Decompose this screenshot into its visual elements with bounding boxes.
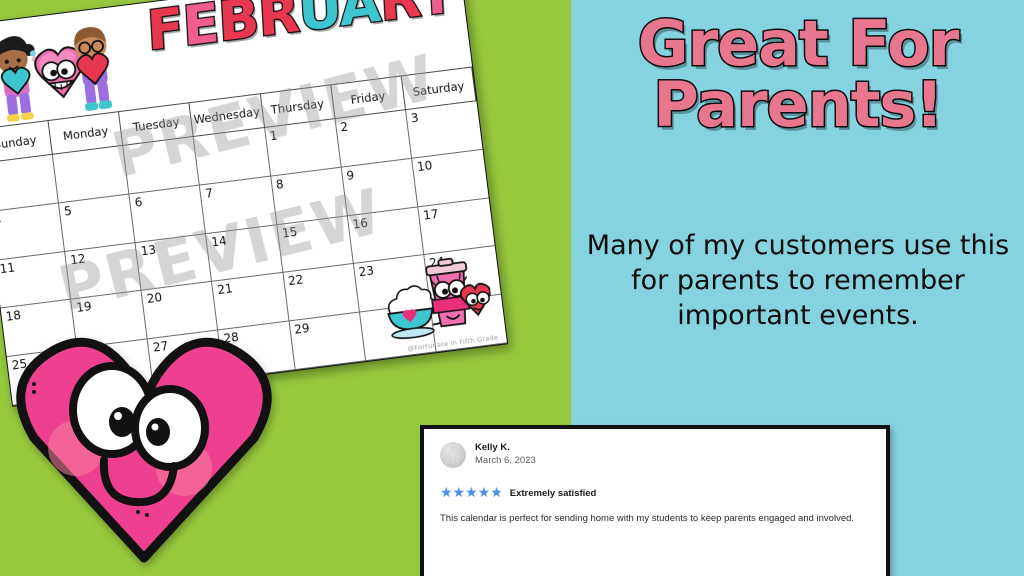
- calendar-date-cell: 22: [283, 264, 360, 321]
- month-title-letter-6: R: [378, 0, 419, 34]
- month-title-letter-4: U: [296, 0, 340, 44]
- calendar-date-number: 4: [0, 213, 2, 228]
- calendar-date-number: 8: [275, 177, 284, 192]
- kids-with-hearts-clipart: [0, 15, 127, 128]
- review-body-text: This calendar is perfect for sending hom…: [440, 511, 860, 527]
- calendar-date-number: 7: [204, 186, 213, 201]
- reviewer-name: Kelly K.: [475, 442, 536, 453]
- calendar-date-number: 17: [422, 207, 439, 223]
- calendar-date-number: 11: [0, 260, 16, 276]
- calendar-date-cell: 17: [418, 198, 495, 255]
- smiling-heart-mascot: [8, 300, 280, 572]
- calendar-date-cell: 6: [130, 185, 207, 242]
- calendar-date-number: 23: [358, 264, 375, 280]
- calendar-date-cell: 3: [406, 101, 483, 158]
- calendar-date-cell: 16: [348, 207, 425, 264]
- calendar-date-number: 2: [340, 120, 349, 135]
- slide-canvas: FEBRUARY SundayMondayTuesdayWednesdayThu…: [0, 0, 1024, 576]
- description-text: Many of my customers use this for parent…: [578, 228, 1018, 333]
- calendar-date-number: 13: [140, 242, 157, 258]
- coffee-cups-clipart: [376, 253, 495, 344]
- calendar-date-cell: 8: [271, 167, 348, 224]
- calendar-date-number: 10: [416, 158, 433, 174]
- calendar-empty-cell: [194, 128, 271, 185]
- review-meta: Kelly K. March 6, 2023: [475, 442, 536, 466]
- calendar-date-number: 1: [269, 128, 278, 143]
- rating-label: Extremely satisfied: [510, 488, 597, 499]
- review-date: March 6, 2023: [475, 455, 536, 466]
- calendar-date-cell: 14: [206, 225, 283, 282]
- calendar-date-cell: 9: [341, 159, 418, 216]
- review-rating: ★★★★★ Extremely satisfied: [440, 486, 870, 500]
- calendar-date-number: 16: [352, 215, 369, 231]
- calendar-date-cell: 5: [59, 194, 136, 251]
- customer-review-card: Kelly K. March 6, 2023 ★★★★★ Extremely s…: [420, 425, 890, 576]
- calendar-date-number: 5: [63, 204, 72, 219]
- month-title-letter-2: B: [216, 0, 259, 54]
- month-title-letter-3: R: [256, 0, 300, 49]
- calendar-empty-cell: [124, 137, 201, 194]
- month-title-letter-1: E: [181, 0, 220, 58]
- calendar-date-cell: 13: [136, 234, 213, 291]
- calendar-date-cell: 1: [265, 119, 342, 176]
- calendar-date-number: 21: [217, 282, 234, 298]
- calendar-month-title: FEBRUARY: [145, 0, 456, 59]
- calendar-date-number: 12: [69, 251, 86, 267]
- headline-line-1: Great For: [578, 14, 1018, 75]
- month-title-letter-5: A: [337, 0, 381, 39]
- headline: Great For Parents!: [578, 14, 1018, 136]
- month-title-letter-0: F: [145, 0, 184, 63]
- headline-line-2: Parents!: [578, 75, 1018, 136]
- calendar-date-cell: 2: [335, 110, 412, 167]
- calendar-date-number: 14: [211, 233, 228, 249]
- month-title-letter-7: Y: [415, 0, 456, 29]
- calendar-date-cell: 7: [200, 176, 277, 233]
- calendar-date-number: 15: [281, 224, 298, 240]
- calendar-date-cell: 12: [65, 243, 142, 300]
- calendar-date-cell: 29: [289, 313, 366, 370]
- avatar: [440, 442, 466, 468]
- calendar-date-number: 3: [410, 111, 419, 126]
- calendar-date-number: 29: [293, 321, 310, 337]
- calendar-date-cell: 15: [277, 216, 354, 273]
- calendar-date-number: 6: [134, 195, 143, 210]
- calendar-date-cell: 10: [412, 150, 489, 207]
- star-rating-icon: ★★★★★: [440, 486, 503, 500]
- calendar-date-number: 22: [287, 273, 304, 289]
- calendar-date-number: 9: [346, 168, 355, 183]
- review-header: Kelly K. March 6, 2023: [440, 442, 870, 468]
- calendar-empty-cell: [53, 146, 130, 203]
